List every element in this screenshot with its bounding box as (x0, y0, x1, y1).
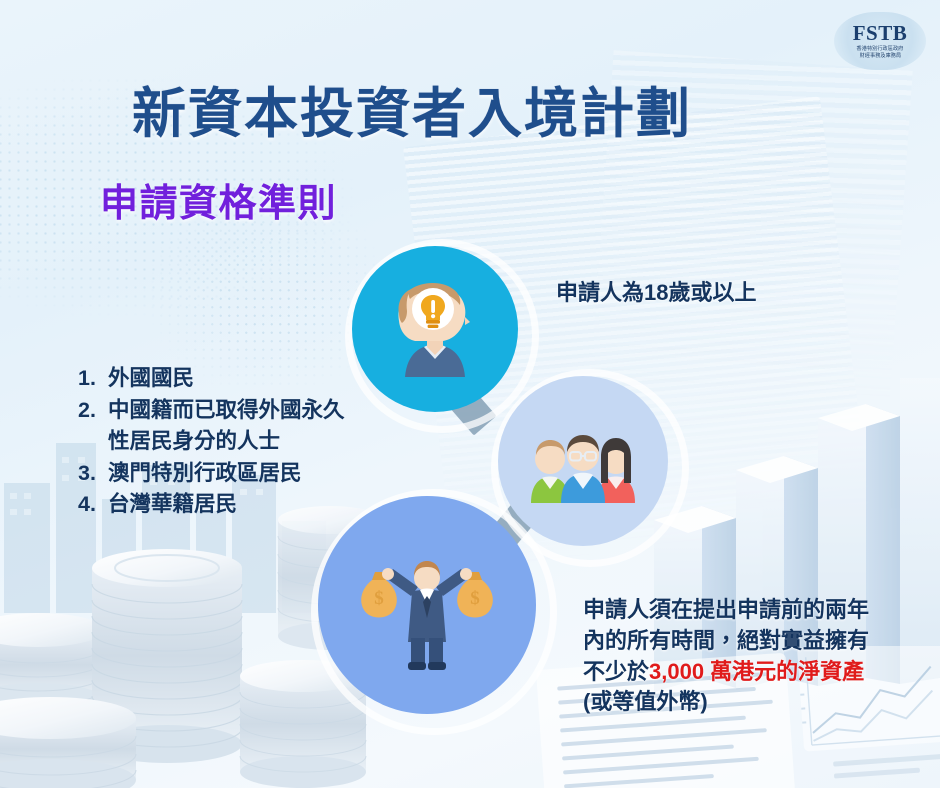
svg-text:$: $ (470, 588, 480, 609)
circle-idea-person (352, 246, 518, 412)
callout-asset-requirement: 申請人須在提出申請前的兩年 內的所有時間，絕對實益擁有 不少於3,000 萬港元… (583, 595, 935, 718)
callout-asset-line1: 申請人須在提出申請前的兩年 (583, 595, 935, 626)
callout-asset-line3: 不少於3,000 萬港元的淨資產 (583, 657, 935, 688)
callout-asset-line4: (或等值外幣) (583, 687, 935, 718)
callout-asset-line2: 內的所有時間，絕對實益擁有 (583, 626, 935, 657)
callout-asset-line3-prefix: 不少於 (583, 659, 649, 684)
infographic-poster: FSTB 香港特別行政區政府 財經事務及庫務局 新資本投資者入境計劃 申請資格準… (0, 0, 940, 788)
circle-group-people (498, 376, 668, 546)
businessman-money-bags-icon: $ $ (356, 538, 498, 672)
head-lightbulb-icon (379, 273, 491, 385)
three-people-icon (525, 419, 641, 503)
callout-age-requirement: 申請人為18歲或以上 (556, 275, 756, 307)
fstb-logo-mark: FSTB (853, 23, 908, 44)
list-item: 3. 澳門特別行政區居民 (78, 458, 448, 489)
list-item-continuation: 性居民身分的人士 (78, 426, 448, 457)
list-item-number: 4. (78, 489, 108, 520)
asset-amount-highlight: 3,000 萬港元的淨資產 (649, 659, 864, 684)
circle-wealth-person: $ $ (318, 496, 536, 714)
svg-text:$: $ (374, 588, 384, 609)
list-item-label: 澳門特別行政區居民 (108, 458, 448, 489)
list-item-number: 2. (78, 395, 108, 426)
fstb-logo-line2: 財經事務及庫務局 (859, 53, 901, 60)
list-item-label: 性居民身分的人士 (108, 426, 448, 457)
page-title: 新資本投資者入境計劃 (132, 69, 692, 148)
page-subtitle: 申請資格準則 (100, 172, 337, 227)
fstb-logo-line1: 香港特別行政區政府 (857, 46, 904, 53)
fstb-logo: FSTB 香港特別行政區政府 財經事務及庫務局 (834, 12, 926, 70)
list-item-number: 3. (78, 458, 108, 489)
list-item-number: 1. (78, 363, 108, 394)
